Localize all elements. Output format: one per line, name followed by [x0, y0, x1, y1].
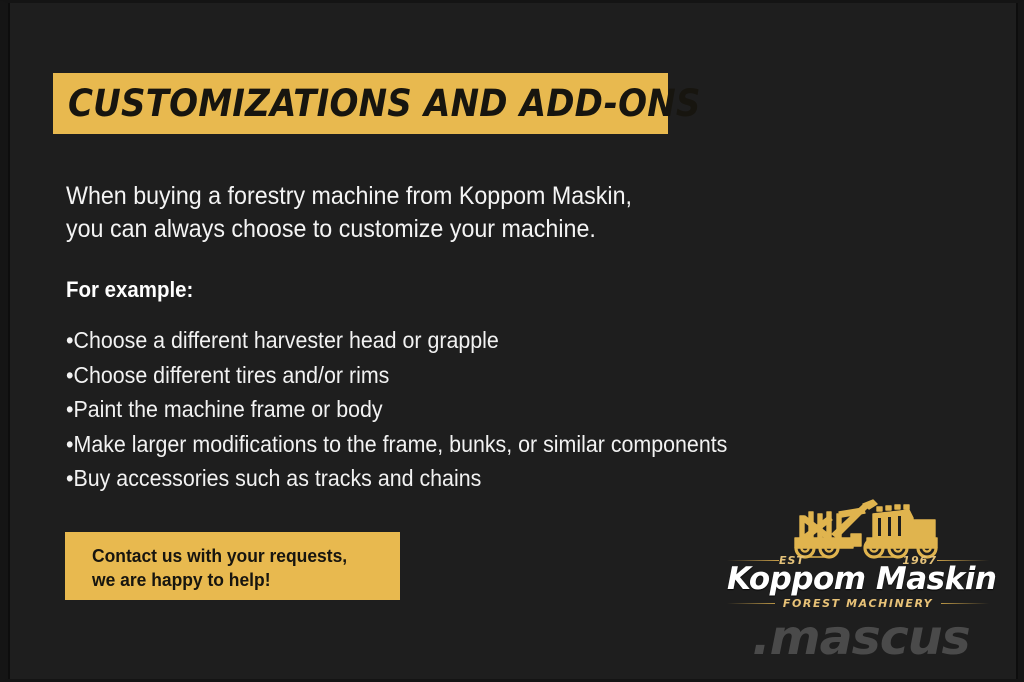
contact-cta-button[interactable]: Contact us with your requests, we are ha…: [65, 532, 400, 600]
bullet-icon: •: [66, 329, 73, 352]
mascus-watermark: .mascus: [752, 612, 1010, 664]
intro-line-2: you can always choose to customize your …: [66, 213, 717, 246]
bullet-icon: •: [66, 398, 73, 421]
bullet-icon: •: [66, 433, 73, 456]
cta-line-1: Contact us with your requests,: [92, 544, 391, 568]
list-item: •Choose a different harvester head or gr…: [66, 323, 791, 358]
tagline-rule-left: [727, 603, 775, 604]
bullet-icon: •: [66, 364, 73, 387]
list-item-label: Choose different tires and/or rims: [73, 362, 389, 388]
slide-canvas: CUSTOMIZATIONS AND ADD-ONS When buying a…: [0, 0, 1024, 682]
logo-tagline: FOREST MACHINERY: [783, 597, 933, 610]
for-example-label: For example:: [66, 277, 193, 303]
forestry-forwarder-icon: [777, 498, 947, 560]
cta-line-2: we are happy to help!: [92, 568, 391, 592]
intro-paragraph: When buying a forestry machine from Kopp…: [66, 180, 717, 246]
intro-line-1: When buying a forestry machine from Kopp…: [66, 180, 717, 213]
list-item: •Make larger modifications to the frame,…: [66, 427, 791, 462]
page-title: CUSTOMIZATIONS AND ADD-ONS: [68, 85, 701, 122]
list-item: •Paint the machine frame or body: [66, 392, 791, 427]
tagline-rule-right: [941, 603, 989, 604]
list-item-label: Choose a different harvester head or gra…: [73, 327, 498, 353]
logo-tagline-row: FOREST MACHINERY: [727, 596, 989, 610]
list-item: •Choose different tires and/or rims: [66, 358, 791, 393]
mascus-wordmark: .mascus: [752, 612, 1015, 664]
customization-options-list: •Choose a different harvester head or gr…: [66, 323, 791, 496]
logo-company-name: Koppom Maskin: [727, 562, 989, 596]
koppom-maskin-logo: EST 1967 Koppom Maskin FOREST MACHINERY: [727, 498, 989, 610]
list-item: •Buy accessories such as tracks and chai…: [66, 461, 791, 496]
title-banner: CUSTOMIZATIONS AND ADD-ONS: [53, 73, 668, 134]
list-item-label: Paint the machine frame or body: [73, 396, 382, 422]
list-item-label: Make larger modifications to the frame, …: [73, 431, 727, 457]
list-item-label: Buy accessories such as tracks and chain…: [73, 465, 481, 491]
bullet-icon: •: [66, 467, 73, 490]
